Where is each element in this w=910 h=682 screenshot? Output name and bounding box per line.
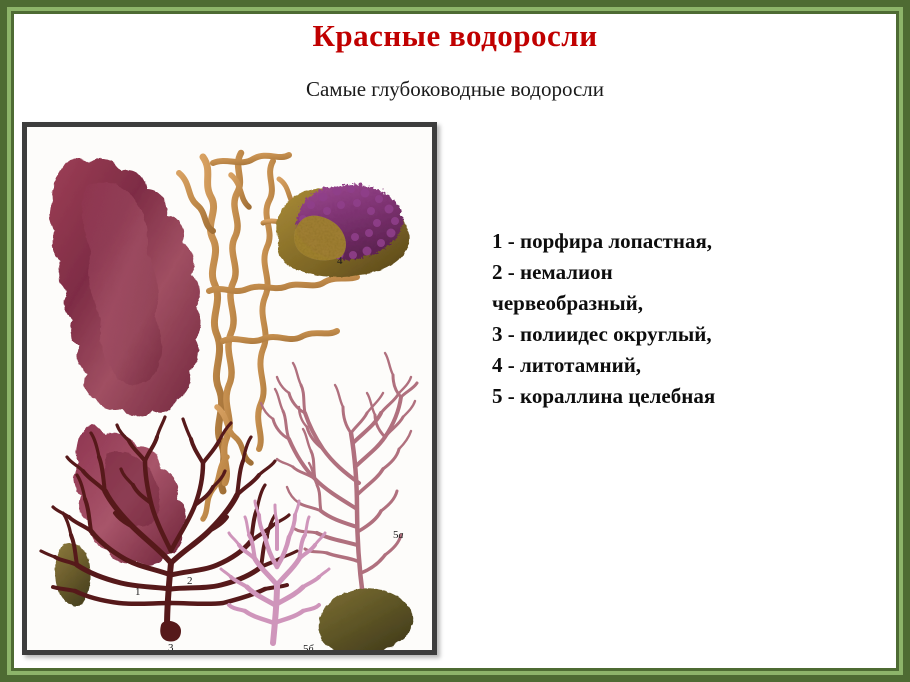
figure-label-5a: 5а: [393, 529, 404, 541]
page-subtitle: Самые глубоководные водоросли: [0, 77, 910, 102]
algae-illustration: [27, 127, 432, 650]
slide: Красные водоросли Самые глубоководные во…: [0, 0, 910, 682]
illustration-plate: 1 2 3 4 5а 5б: [22, 122, 437, 655]
specimen-porphyra: [49, 159, 201, 417]
figure-label-5a-sub: а: [399, 530, 404, 541]
figure-label-1: 1: [135, 586, 141, 598]
specimen-corallina: [261, 353, 417, 597]
substrate-rock-corallina: [319, 588, 413, 650]
figure-label-2: 2: [187, 575, 193, 587]
legend-item-2-cont: червеобразный,: [492, 288, 892, 319]
figure-label-4: 4: [337, 255, 343, 267]
figure-label-5b-sub: б: [309, 644, 314, 655]
page-title: Красные водоросли: [0, 18, 910, 54]
figure-label-5b: 5б: [303, 643, 314, 655]
legend-item-2: 2 - немалион: [492, 257, 892, 288]
legend-item-4: 4 - литотамний,: [492, 350, 892, 381]
legend: 1 - порфира лопастная, 2 - немалион черв…: [492, 226, 892, 412]
polyides-holdfast: [160, 621, 181, 642]
legend-item-1: 1 - порфира лопастная,: [492, 226, 892, 257]
legend-item-5: 5 - кораллина целебная: [492, 381, 892, 412]
specimen-corallina-detail: [221, 501, 329, 643]
legend-item-3: 3 - полиидес округлый,: [492, 319, 892, 350]
figure-label-3: 3: [168, 642, 174, 654]
